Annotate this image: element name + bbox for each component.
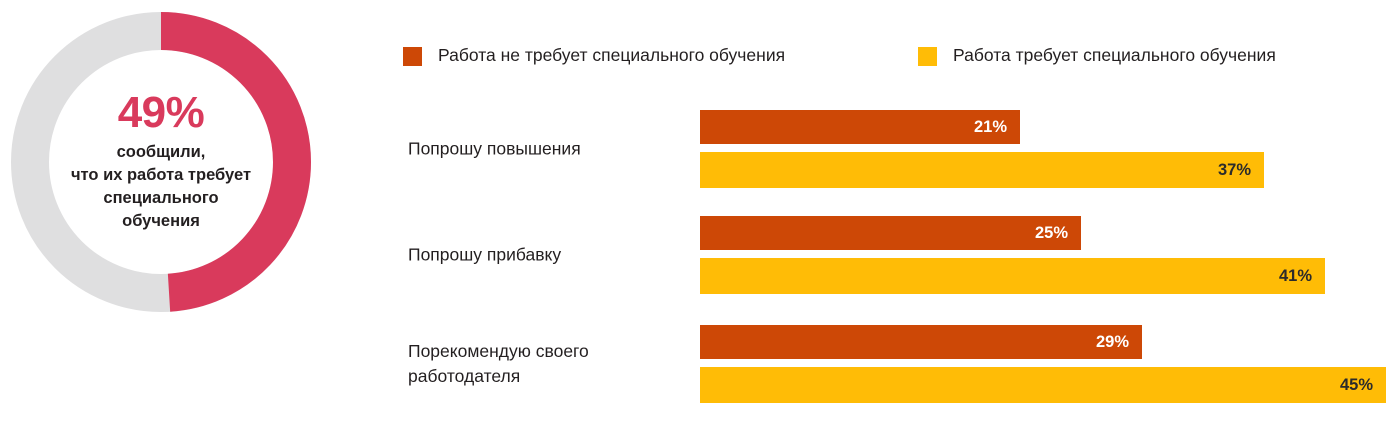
bar-fill-requires-training[interactable]: 37%: [700, 152, 1264, 188]
bar-value-label: 29%: [1096, 334, 1142, 351]
bar-value-label: 41%: [1279, 268, 1325, 285]
bar-row-group: Попрошу прибавку 25% 41%: [0, 216, 1400, 294]
bar-fill-no-training[interactable]: 25%: [700, 216, 1081, 250]
bar-fill-requires-training[interactable]: 41%: [700, 258, 1325, 294]
bar-fill-no-training[interactable]: 21%: [700, 110, 1020, 144]
bar-category-line: Порекомендую своего: [408, 341, 589, 361]
bar-value-label: 45%: [1340, 377, 1386, 394]
bar-value-label: 37%: [1218, 162, 1264, 179]
bar-fill-no-training[interactable]: 29%: [700, 325, 1142, 359]
bar-chart: Попрошу повышения 21% 37% Попрошу прибав…: [0, 0, 1400, 425]
bar-category-label: Попрошу прибавку: [408, 243, 688, 268]
bar-track: 41%: [700, 258, 1400, 294]
bar-row-group: Порекомендую своего работодателя 29% 45%: [0, 325, 1400, 403]
infographic-root: 49% сообщили, что их работа требует спец…: [0, 0, 1400, 425]
bar-track: 45%: [700, 367, 1400, 403]
bar-track: 25%: [700, 216, 1400, 250]
bar-category-label: Попрошу повышения: [408, 137, 688, 162]
bar-value-label: 25%: [1035, 225, 1081, 242]
bar-fill-requires-training[interactable]: 45%: [700, 367, 1386, 403]
bar-track: 21%: [700, 110, 1400, 144]
bar-category-label: Порекомендую своего работодателя: [408, 339, 688, 389]
bar-value-label: 21%: [974, 119, 1020, 136]
bar-track: 37%: [700, 152, 1400, 188]
bar-category-line: Попрошу прибавку: [408, 245, 561, 265]
bar-track: 29%: [700, 325, 1400, 359]
bar-category-line: Попрошу повышения: [408, 139, 581, 159]
bar-category-line: работодателя: [408, 366, 520, 386]
bar-row-group: Попрошу повышения 21% 37%: [0, 110, 1400, 188]
